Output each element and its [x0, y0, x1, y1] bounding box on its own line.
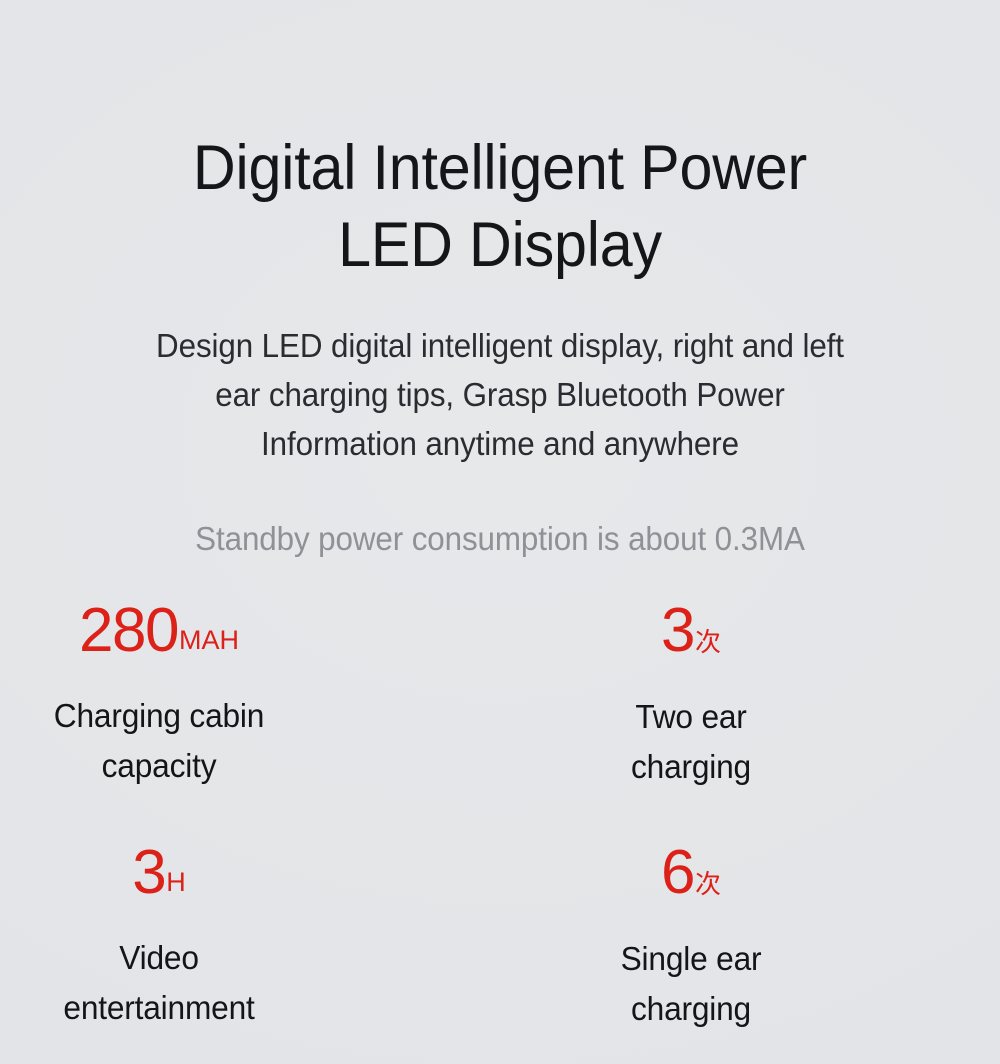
page-title-line-2: LED Display [30, 207, 970, 284]
stat-value: 3H [0, 840, 318, 917]
stat-label-line-1: Two ear [508, 692, 875, 742]
stat-number: 280 [79, 596, 178, 665]
stat-unit: H [166, 867, 186, 897]
stat-label: Single ear charging [508, 934, 875, 1034]
stat-label: Charging cabin capacity [6, 691, 311, 791]
stat-charging-cabin-capacity: 280MAH Charging cabin capacity [0, 588, 500, 830]
stat-label: Video entertainment [6, 933, 311, 1033]
intro-line-1: Design LED digital intelligent display, … [25, 321, 975, 370]
stat-value: 280MAH [0, 598, 318, 675]
intro-paragraph: Design LED digital intelligent display, … [25, 321, 975, 468]
page-title-line-1: Digital Intelligent Power [30, 130, 970, 207]
standby-power-note: Standby power consumption is about 0.3MA [25, 516, 975, 562]
stat-unit: MAH [179, 625, 239, 655]
stat-label-line-1: Charging cabin [6, 691, 311, 741]
stat-label-line-2: charging [508, 742, 875, 792]
stat-label: Two ear charging [508, 692, 875, 792]
stat-number: 6 [661, 838, 694, 907]
stat-value: 6次 [500, 840, 882, 918]
stat-unit: 次 [695, 870, 721, 900]
product-feature-panel: Digital Intelligent Power LED Display De… [0, 0, 1000, 1064]
intro-line-2: ear charging tips, Grasp Bluetooth Power [25, 370, 975, 419]
stat-label-line-1: Single ear [508, 934, 875, 984]
intro-line-3: Information anytime and anywhere [25, 419, 975, 468]
stat-number: 3 [132, 838, 165, 907]
stat-label-line-2: capacity [6, 741, 311, 791]
stat-video-entertainment: 3H Video entertainment [0, 830, 500, 1064]
stat-number: 3 [661, 596, 694, 665]
stat-label-line-2: charging [508, 984, 875, 1034]
stat-two-ear-charging: 3次 Two ear charging [500, 588, 1000, 830]
stat-single-ear-charging: 6次 Single ear charging [500, 830, 1000, 1064]
spec-stats-grid: 280MAH Charging cabin capacity 3次 Two ea… [0, 588, 1000, 1064]
page-title: Digital Intelligent Power LED Display [30, 130, 970, 284]
stat-label-line-2: entertainment [6, 983, 311, 1033]
stat-unit: 次 [695, 628, 721, 658]
stat-label-line-1: Video [6, 933, 311, 983]
stat-value: 3次 [500, 598, 882, 676]
